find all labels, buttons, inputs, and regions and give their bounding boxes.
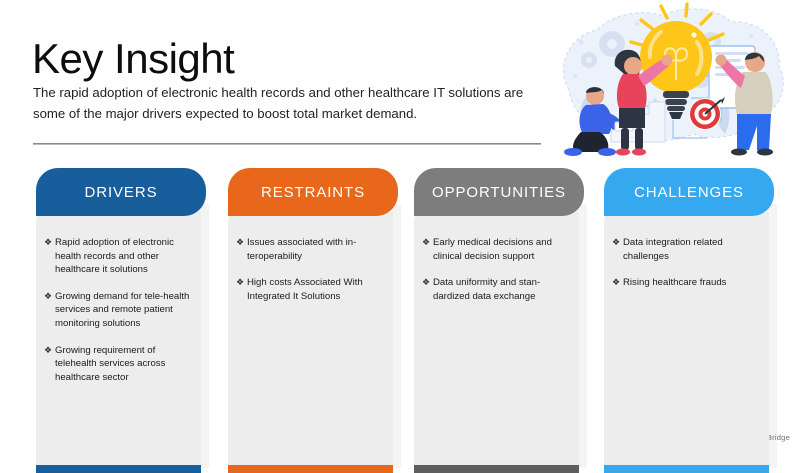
list-item: ❖ Growing demand for tele-health service… — [44, 290, 191, 331]
bullet-list: ❖ Early medical decisions and clinical d… — [422, 236, 569, 303]
card-body-restraints: ❖ Issues associated with in-teroperabili… — [228, 212, 393, 465]
diamond-bullet-icon: ❖ — [44, 344, 55, 357]
card-accent-bar — [414, 465, 579, 473]
list-item: ❖ High costs Associated With Integrated … — [236, 276, 383, 303]
diamond-bullet-icon: ❖ — [236, 276, 247, 289]
card-header-opportunities[interactable]: OPPORTUNITIES — [414, 168, 584, 216]
bullet-list: ❖ Rapid adoption of electronic health re… — [44, 236, 191, 384]
diamond-bullet-icon: ❖ — [612, 276, 623, 289]
card-body-challenges: ❖ Data integration related challenges ❖ … — [604, 212, 769, 465]
card-header-challenges[interactable]: CHALLENGES — [604, 168, 774, 216]
list-item: ❖ Growing requirement of telehealth serv… — [44, 344, 191, 385]
diamond-bullet-icon: ❖ — [236, 236, 247, 249]
card-title: CHALLENGES — [634, 184, 744, 201]
list-item-text: Rapid adoption of electronic health reco… — [55, 236, 191, 277]
list-item: ❖ Rising healthcare frauds — [612, 276, 759, 290]
list-item: ❖ Data integration related challenges — [612, 236, 759, 263]
list-item: ❖ Early medical decisions and clinical d… — [422, 236, 569, 263]
diamond-bullet-icon: ❖ — [612, 236, 623, 249]
list-item-text: Rising healthcare frauds — [623, 276, 759, 290]
diamond-bullet-icon: ❖ — [422, 236, 433, 249]
list-item: ❖ Data uniformity and stan-dardized data… — [422, 276, 569, 303]
diamond-bullet-icon: ❖ — [44, 290, 55, 303]
insight-cards: DRIVERS ❖ Rapid adoption of electronic h… — [0, 0, 800, 450]
list-item-text: Issues associated with in-teroperability — [247, 236, 383, 263]
list-item: ❖ Rapid adoption of electronic health re… — [44, 236, 191, 277]
list-item-text: Growing demand for tele-health services … — [55, 290, 191, 331]
card-title: RESTRAINTS — [261, 184, 365, 201]
card-accent-bar — [228, 465, 393, 473]
bullet-list: ❖ Issues associated with in-teroperabili… — [236, 236, 383, 303]
list-item-text: High costs Associated With Integrated It… — [247, 276, 383, 303]
card-body-opportunities: ❖ Early medical decisions and clinical d… — [414, 212, 579, 465]
list-item: ❖ Issues associated with in-teroperabili… — [236, 236, 383, 263]
diamond-bullet-icon: ❖ — [422, 276, 433, 289]
list-item-text: Early medical decisions and clinical dec… — [433, 236, 569, 263]
card-header-restraints[interactable]: RESTRAINTS — [228, 168, 398, 216]
bullet-list: ❖ Data integration related challenges ❖ … — [612, 236, 759, 290]
diamond-bullet-icon: ❖ — [44, 236, 55, 249]
list-item-text: Growing requirement of telehealth servic… — [55, 344, 191, 385]
card-title: DRIVERS — [85, 184, 158, 201]
card-accent-bar — [36, 465, 201, 473]
card-header-drivers[interactable]: DRIVERS — [36, 168, 206, 216]
card-body-drivers: ❖ Rapid adoption of electronic health re… — [36, 212, 201, 465]
card-accent-bar — [604, 465, 769, 473]
list-item-text: Data integration related challenges — [623, 236, 759, 263]
list-item-text: Data uniformity and stan-dardized data e… — [433, 276, 569, 303]
card-title: OPPORTUNITIES — [432, 184, 566, 201]
